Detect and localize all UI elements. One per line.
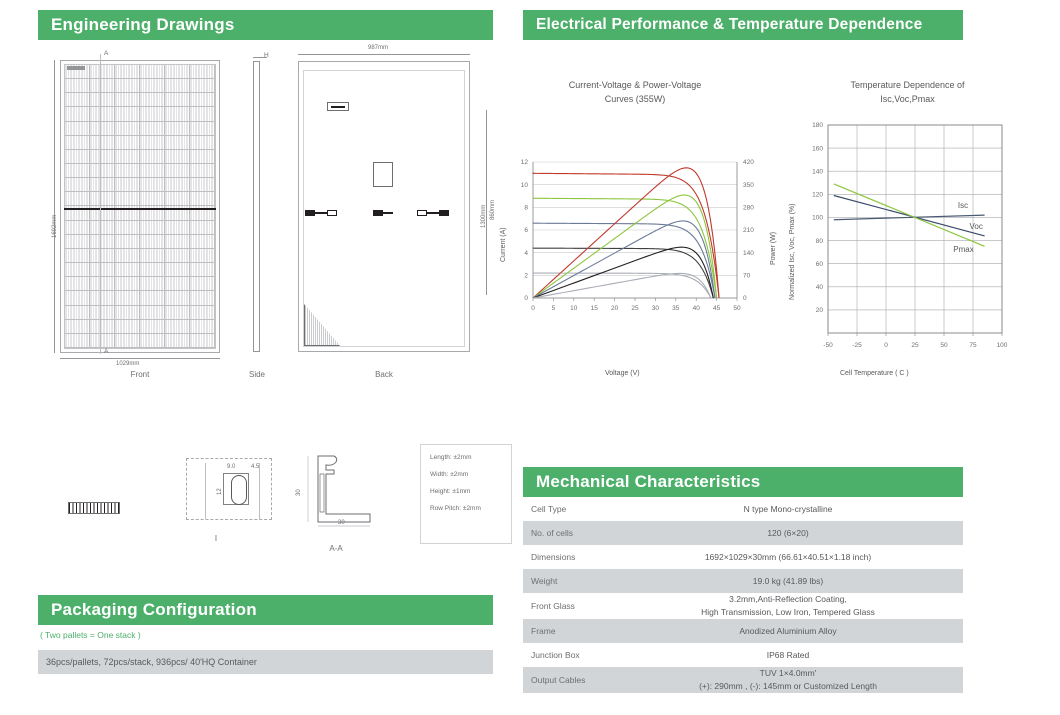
packaging-configuration-title: Packaging Configuration — [51, 600, 257, 620]
table-cell-key: Cell Type — [523, 504, 643, 514]
solar-cell-matrix — [64, 64, 216, 349]
iv-x-axis-label: Voltage (V) — [605, 370, 640, 377]
svg-text:60: 60 — [816, 261, 824, 268]
junction-box-icon — [373, 162, 393, 187]
product-label-icon — [327, 102, 349, 111]
mounting-slot-detail: 9.0 4.5 12 — [186, 458, 272, 520]
slot-oval — [231, 475, 247, 505]
tolerance-box: Length: ±2mm Width: ±2mm Height: ±1mm Ro… — [420, 444, 512, 544]
svg-text:-50: -50 — [823, 342, 833, 349]
svg-text:2: 2 — [524, 273, 528, 280]
temperature-chart-title: Temperature Dependence of Isc,Voc,Pmax — [800, 78, 1015, 106]
slot-dim-w2: 4.5 — [251, 464, 259, 470]
svg-text:140: 140 — [812, 168, 823, 175]
back-width-dim-line — [298, 54, 470, 55]
iv-y2-axis-label: Power (W) — [770, 232, 777, 265]
svg-text:75: 75 — [969, 342, 977, 349]
profile-width-label: 30 — [338, 520, 345, 526]
detail-i-caption: I — [186, 534, 246, 543]
table-cell-value: 120 (6×20) — [643, 527, 963, 540]
side-view-drawing — [253, 61, 260, 352]
table-cell-key: Junction Box — [523, 650, 643, 660]
front-view-caption: Front — [110, 370, 170, 379]
side-dim-line — [253, 57, 267, 58]
svg-text:Pmax: Pmax — [953, 245, 973, 254]
cable-right — [417, 210, 463, 216]
section-marker-a-bottom: A — [104, 348, 108, 355]
packaging-detail: 36pcs/pallets, 72pcs/stack, 936pcs/ 40'H… — [38, 650, 493, 674]
svg-text:420: 420 — [743, 159, 754, 166]
table-row: Front Glass3.2mm,Anti-Reflection Coating… — [523, 593, 963, 619]
front-height-label: 1692mm — [52, 215, 58, 238]
back-dim-860: 860mm — [490, 200, 496, 220]
profile-height-label: 30 — [296, 489, 302, 496]
table-cell-key: Weight — [523, 576, 643, 586]
iv-chart-title-line2: Curves (355W) — [520, 92, 750, 106]
svg-text:0: 0 — [524, 295, 528, 302]
frame-cross-section — [300, 450, 374, 542]
electrical-performance-header: Electrical Performance & Temperature Dep… — [523, 10, 963, 40]
svg-text:140: 140 — [743, 250, 754, 257]
section-cut-line — [100, 54, 101, 354]
svg-text:45: 45 — [713, 305, 721, 312]
packaging-note: ( Two pallets = One stack ) — [40, 630, 141, 640]
packaging-configuration-header: Packaging Configuration — [38, 595, 493, 625]
iv-chart-plot: 0246810120701402102803504200510152025303… — [505, 150, 770, 330]
cable-center — [373, 210, 395, 216]
temperature-chart-plot: 20406080100120140160180-50-250255075100I… — [790, 115, 1030, 365]
svg-text:210: 210 — [743, 227, 754, 234]
mechanical-characteristics-table: Cell TypeN type Mono-crystallineNo. of c… — [523, 497, 963, 693]
front-width-dim-line — [60, 358, 220, 359]
detail-drawing-canvas: 9.0 4.5 12 I 30 30 A-A Length: ±2mm Widt… — [38, 440, 498, 560]
svg-text:15: 15 — [591, 305, 599, 312]
svg-text:0: 0 — [531, 305, 535, 312]
temperature-y-axis-label: Normalized Isc, Voc, Pmax (%) — [789, 204, 796, 300]
svg-text:50: 50 — [733, 305, 741, 312]
table-cell-value: TUV 1×4.0mm'(+): 290mm , (-): 145mm or C… — [643, 667, 963, 693]
temperature-chart-title-line2: Isc,Voc,Pmax — [800, 92, 1015, 106]
temperature-chart-title-line1: Temperature Dependence of — [800, 78, 1015, 92]
section-marker-a-top: A — [104, 50, 108, 57]
back-width-label: 987mm — [368, 45, 388, 51]
svg-text:120: 120 — [812, 192, 823, 199]
table-cell-key: Frame — [523, 626, 643, 636]
table-row: No. of cells120 (6×20) — [523, 521, 963, 545]
electrical-performance-title: Electrical Performance & Temperature Dep… — [536, 16, 922, 34]
svg-text:50: 50 — [940, 342, 948, 349]
table-row: FrameAnodized Aluminium Alloy — [523, 619, 963, 643]
mechanical-characteristics-title: Mechanical Characteristics — [536, 472, 760, 492]
svg-text:10: 10 — [521, 182, 529, 189]
svg-text:25: 25 — [631, 305, 639, 312]
table-cell-value: N type Mono-crystalline — [643, 503, 963, 516]
svg-text:20: 20 — [816, 307, 824, 314]
svg-text:Isc: Isc — [958, 201, 968, 210]
back-dim-1300: 1300mm — [481, 205, 487, 228]
table-row: Output CablesTUV 1×4.0mm'(+): 290mm , (-… — [523, 667, 963, 693]
mechanical-characteristics-header: Mechanical Characteristics — [523, 467, 963, 497]
svg-text:350: 350 — [743, 182, 754, 189]
svg-text:35: 35 — [672, 305, 680, 312]
svg-text:20: 20 — [611, 305, 619, 312]
svg-text:6: 6 — [524, 227, 528, 234]
iv-y-axis-label: Current (A) — [500, 227, 507, 262]
svg-text:-25: -25 — [852, 342, 862, 349]
front-height-dim-line — [54, 60, 55, 353]
table-row: Junction BoxIP68 Rated — [523, 643, 963, 667]
engineering-drawings-header: Engineering Drawings — [38, 10, 493, 40]
svg-text:160: 160 — [812, 145, 823, 152]
back-view-drawing — [298, 61, 470, 352]
svg-text:40: 40 — [693, 305, 701, 312]
front-view-drawing — [60, 60, 220, 353]
svg-text:40: 40 — [816, 284, 824, 291]
svg-text:0: 0 — [743, 295, 747, 302]
table-cell-value: 1692×1029×30mm (66.61×40.51×1.18 inch) — [643, 551, 963, 564]
table-cell-value: 19.0 kg (41.89 lbs) — [643, 575, 963, 588]
table-cell-key: Output Cables — [523, 675, 643, 685]
tolerance-width: Width: ±2mm — [430, 471, 511, 478]
table-row: Weight19.0 kg (41.89 lbs) — [523, 569, 963, 593]
table-cell-key: Front Glass — [523, 601, 643, 611]
tolerance-length: Length: ±2mm — [430, 454, 511, 461]
tolerance-height: Height: ±1mm — [430, 488, 511, 495]
back-frame-inner — [303, 70, 465, 347]
detail-aa-caption: A-A — [306, 544, 366, 553]
table-row: Dimensions1692×1029×30mm (66.61×40.51×1.… — [523, 545, 963, 569]
back-vertical-dim-line — [486, 110, 487, 295]
svg-text:180: 180 — [812, 122, 823, 129]
front-label-strip — [67, 66, 85, 70]
svg-text:5: 5 — [552, 305, 556, 312]
svg-text:70: 70 — [743, 273, 751, 280]
cable-left — [305, 210, 351, 216]
connector-detail-icon — [68, 502, 120, 514]
svg-text:30: 30 — [652, 305, 660, 312]
table-cell-key: No. of cells — [523, 528, 643, 538]
temperature-x-axis-label: Cell Temperature ( C ) — [840, 370, 909, 377]
engineering-drawings-title: Engineering Drawings — [51, 15, 234, 35]
table-cell-value: IP68 Rated — [643, 649, 963, 662]
svg-text:10: 10 — [570, 305, 578, 312]
center-busbar — [64, 208, 216, 210]
svg-text:12: 12 — [521, 159, 529, 166]
slot-dim-w1: 9.0 — [227, 464, 235, 470]
iv-chart-title: Current-Voltage & Power-Voltage Curves (… — [520, 78, 750, 106]
svg-text:0: 0 — [884, 342, 888, 349]
svg-text:Voc: Voc — [970, 222, 983, 231]
engineering-drawing-canvas: 1692mm 1029mm A A Front H Side 987mm 130… — [38, 48, 498, 388]
slot-dim-h: 12 — [217, 488, 223, 495]
tolerance-row-pitch: Row Pitch: ±2mm — [430, 505, 511, 512]
front-width-label: 1029mm — [116, 361, 139, 367]
svg-text:100: 100 — [812, 215, 823, 222]
table-cell-key: Dimensions — [523, 552, 643, 562]
svg-text:8: 8 — [524, 205, 528, 212]
iv-chart-title-line1: Current-Voltage & Power-Voltage — [520, 78, 750, 92]
side-view-caption: Side — [227, 370, 287, 379]
back-view-caption: Back — [354, 370, 414, 379]
table-cell-value: 3.2mm,Anti-Reflection Coating,High Trans… — [643, 593, 963, 619]
svg-text:280: 280 — [743, 205, 754, 212]
svg-text:80: 80 — [816, 238, 824, 245]
table-row: Cell TypeN type Mono-crystalline — [523, 497, 963, 521]
table-cell-value: Anodized Aluminium Alloy — [643, 625, 963, 638]
svg-text:25: 25 — [911, 342, 919, 349]
svg-text:100: 100 — [997, 342, 1008, 349]
svg-text:4: 4 — [524, 250, 528, 257]
